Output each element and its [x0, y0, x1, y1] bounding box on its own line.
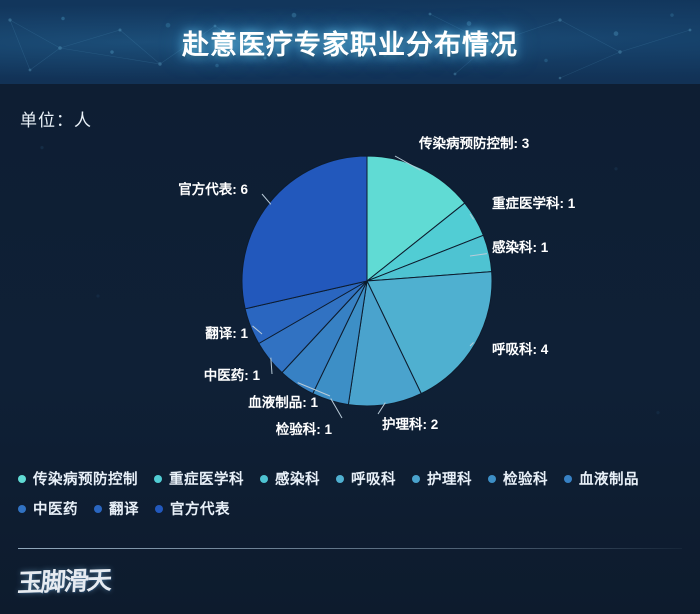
legend-label: 检验科	[503, 468, 548, 489]
legend-label: 呼吸科	[351, 468, 396, 489]
pie-slice-label: 呼吸科: 4	[492, 341, 549, 357]
legend-color-swatch-icon	[18, 475, 26, 483]
legend-color-swatch-icon	[154, 475, 162, 483]
footer-divider	[18, 548, 682, 549]
legend-label: 护理科	[427, 468, 472, 489]
legend-color-swatch-icon	[155, 505, 163, 513]
legend-color-swatch-icon	[488, 475, 496, 483]
pie-slice-label: 血液制品: 1	[248, 394, 318, 410]
legend-item[interactable]: 血液制品	[564, 468, 639, 489]
legend-label: 传染病预防控制	[33, 468, 138, 489]
pie-leader-line	[262, 194, 271, 204]
pie-slice-label: 传染病预防控制: 3	[418, 135, 530, 151]
legend-label: 中医药	[33, 498, 78, 519]
header-banner: 赴意医疗专家职业分布情况	[0, 0, 700, 84]
legend-item[interactable]: 感染科	[260, 468, 320, 489]
legend-color-swatch-icon	[564, 475, 572, 483]
legend-label: 血液制品	[579, 468, 639, 489]
legend-color-swatch-icon	[18, 505, 26, 513]
legend-item[interactable]: 检验科	[488, 468, 548, 489]
legend-item[interactable]: 重症医学科	[154, 468, 244, 489]
pie-chart: 传染病预防控制: 3重症医学科: 1感染科: 1呼吸科: 4护理科: 2检验科:…	[0, 84, 700, 449]
legend-color-swatch-icon	[336, 475, 344, 483]
legend-item[interactable]: 呼吸科	[336, 468, 396, 489]
pie-slice-label: 护理科: 2	[382, 416, 438, 432]
pie-slice-label: 检验科: 1	[276, 421, 333, 437]
pie-slice-label: 中医药: 1	[204, 367, 261, 383]
infographic-root: 赴意医疗专家职业分布情况 单位：人 传染病预防控制: 3重症医学科: 1感染科:…	[0, 0, 700, 614]
chart-legend: 传染病预防控制重症医学科感染科呼吸科护理科检验科血液制品中医药翻译官方代表	[18, 468, 688, 519]
legend-color-swatch-icon	[94, 505, 102, 513]
legend-item[interactable]: 传染病预防控制	[18, 468, 138, 489]
legend-item[interactable]: 中医药	[18, 498, 78, 519]
legend-color-swatch-icon	[260, 475, 268, 483]
legend-label: 重症医学科	[169, 468, 244, 489]
watermark-logo: 玉脚滑天	[17, 560, 112, 599]
legend-color-swatch-icon	[412, 475, 420, 483]
legend-label: 翻译	[109, 498, 139, 519]
legend-item[interactable]: 官方代表	[155, 498, 230, 519]
pie-slice-label: 感染科: 1	[492, 239, 549, 255]
pie-chart-svg: 传染病预防控制: 3重症医学科: 1感染科: 1呼吸科: 4护理科: 2检验科:…	[0, 84, 700, 449]
legend-label: 感染科	[275, 468, 320, 489]
legend-item[interactable]: 护理科	[412, 468, 472, 489]
pie-slice-label: 翻译: 1	[205, 325, 248, 341]
legend-label: 官方代表	[170, 498, 230, 519]
legend-item[interactable]: 翻译	[94, 498, 139, 519]
page-title: 赴意医疗专家职业分布情况	[0, 0, 700, 84]
pie-slice-label: 官方代表: 6	[178, 181, 248, 197]
pie-slice-label: 重症医学科: 1	[492, 195, 576, 211]
